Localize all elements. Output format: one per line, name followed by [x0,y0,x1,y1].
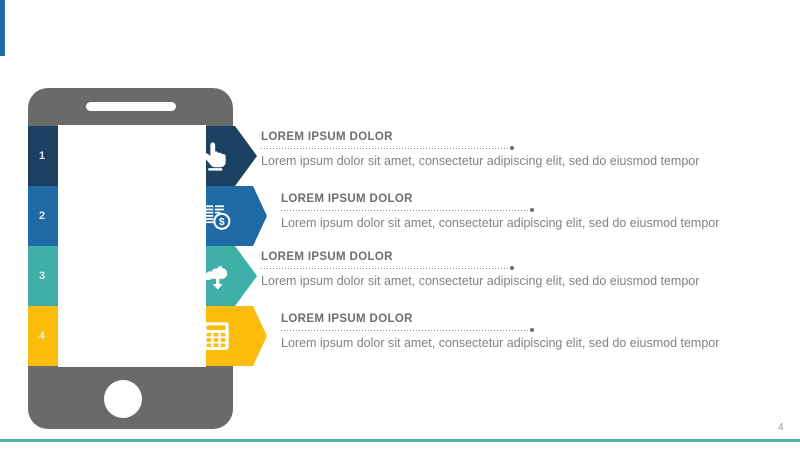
step-divider-2 [281,207,534,214]
phone-screen [58,125,206,367]
svg-text:$: $ [219,217,225,228]
step-title-3: LOREM IPSUM DOLOR [261,251,699,263]
step-body-1: Lorem ipsum dolor sit amet, consectetur … [261,153,699,169]
phone-speaker-slot [86,102,176,111]
step-number-3: 3 [39,270,45,282]
step-body-3: Lorem ipsum dolor sit amet, consectetur … [261,273,699,289]
step-body-4: Lorem ipsum dolor sit amet, consectetur … [281,335,719,351]
dotted-rule-end-dot [530,328,534,332]
page-number: 4 [778,422,784,433]
step-text-2: LOREM IPSUM DOLOR Lorem ipsum dolor sit … [281,193,719,231]
dotted-rule-end-dot [510,146,514,150]
step-divider-1 [261,145,514,152]
step-title-1: LOREM IPSUM DOLOR [261,131,699,143]
step-text-3: LOREM IPSUM DOLOR Lorem ipsum dolor sit … [261,251,699,289]
phone-home-button [104,380,142,418]
top-left-accent-bar [0,0,5,56]
dotted-rule [281,210,529,211]
step-number-4: 4 [39,330,45,342]
step-divider-3 [261,265,514,272]
step-number-2: 2 [39,210,45,222]
dotted-rule [261,148,509,149]
step-number-1: 1 [39,150,45,162]
dotted-rule [261,268,509,269]
slide-canvas: 1 2 3 4 [0,0,800,453]
step-body-2: Lorem ipsum dolor sit amet, consectetur … [281,215,719,231]
smartphone-illustration: 1 2 3 4 [28,88,233,429]
footer-rule [0,439,800,442]
step-text-1: LOREM IPSUM DOLOR Lorem ipsum dolor sit … [261,131,699,169]
step-divider-4 [281,327,534,334]
step-text-4: LOREM IPSUM DOLOR Lorem ipsum dolor sit … [281,313,719,351]
dotted-rule-end-dot [510,266,514,270]
dotted-rule-end-dot [530,208,534,212]
step-title-4: LOREM IPSUM DOLOR [281,313,719,325]
dotted-rule [281,330,529,331]
step-title-2: LOREM IPSUM DOLOR [281,193,719,205]
